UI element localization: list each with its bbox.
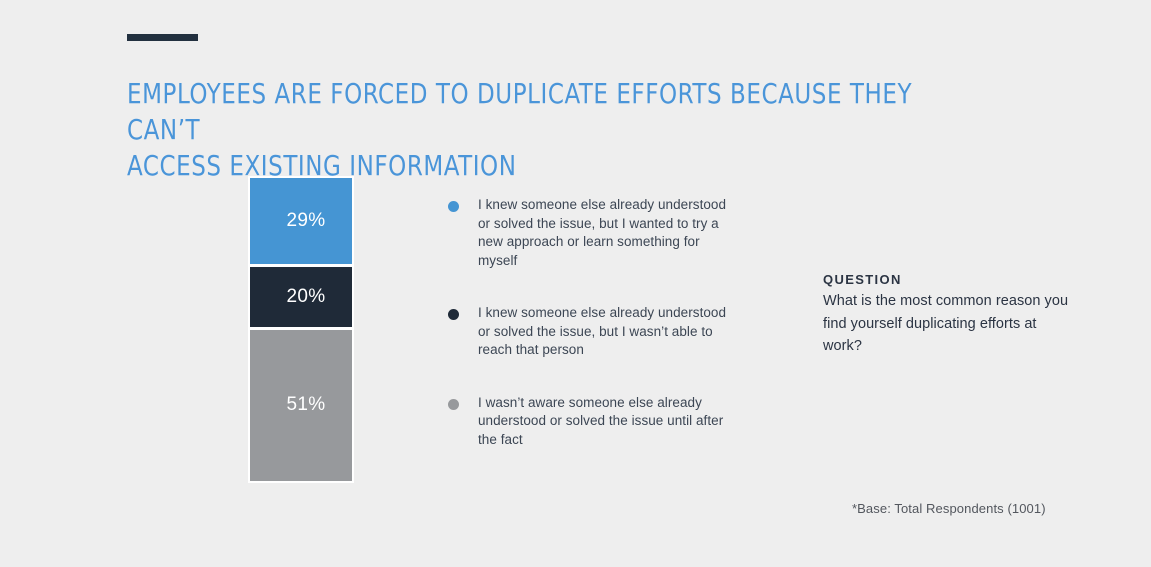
stacked-bar-chart: 29% 20% 51% xyxy=(248,176,354,483)
legend-bullet-icon-2 xyxy=(448,399,459,410)
slide-canvas: EMPLOYEES ARE FORCED TO DUPLICATE EFFORT… xyxy=(0,0,1151,567)
legend-bullet-icon-0 xyxy=(448,201,459,212)
bar-segment-1: 20% xyxy=(248,266,354,328)
legend-item-1: I knew someone else already understood o… xyxy=(448,304,748,360)
bar-segment-value-1: 20% xyxy=(277,286,326,308)
bar-segment-2: 51% xyxy=(248,329,354,483)
bar-segment-value-0: 29% xyxy=(277,210,326,232)
bar-segment-value-2: 51% xyxy=(277,394,326,416)
legend-item-label-0: I knew someone else already understood o… xyxy=(478,196,734,270)
chart-legend: I knew someone else already understood o… xyxy=(448,196,748,483)
legend-bullet-icon-1 xyxy=(448,309,459,320)
accent-rule xyxy=(127,34,198,41)
bar-segment-0: 29% xyxy=(248,176,354,266)
page-title: EMPLOYEES ARE FORCED TO DUPLICATE EFFORT… xyxy=(127,76,992,184)
question-block: QUESTION What is the most common reason … xyxy=(823,272,1073,358)
question-eyebrow-label: QUESTION xyxy=(823,272,1073,287)
legend-item-label-1: I knew someone else already understood o… xyxy=(478,304,734,360)
footnote-base: *Base: Total Respondents (1001) xyxy=(852,501,1046,516)
legend-item-2: I wasn’t aware someone else already unde… xyxy=(448,394,748,450)
legend-item-label-2: I wasn’t aware someone else already unde… xyxy=(478,394,734,450)
legend-item-0: I knew someone else already understood o… xyxy=(448,196,748,270)
question-text: What is the most common reason you find … xyxy=(823,290,1073,358)
